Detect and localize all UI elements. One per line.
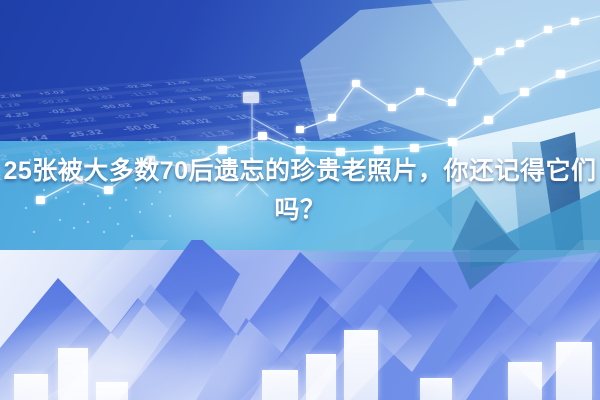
- bar-chart-bar: [262, 370, 298, 400]
- bar-chart-bar: [344, 330, 378, 400]
- banner-image: -45.02-02.36+5.02-11.25-02.3621.0545.024…: [0, 0, 600, 400]
- bar-chart-bar: [96, 382, 128, 400]
- bar-chart-bar: [420, 378, 452, 400]
- bar-chart-bar: [556, 342, 592, 400]
- bar-chart-bar: [306, 354, 336, 400]
- bar-chart-bar: [58, 348, 88, 400]
- page-title: 25张被大多数70后遗忘的珍贵老照片，你还记得它们吗？: [0, 152, 600, 230]
- bar-chart-bar: [508, 362, 542, 400]
- bar-chart-bar: [14, 374, 48, 400]
- bar-chart-bars: [0, 280, 600, 400]
